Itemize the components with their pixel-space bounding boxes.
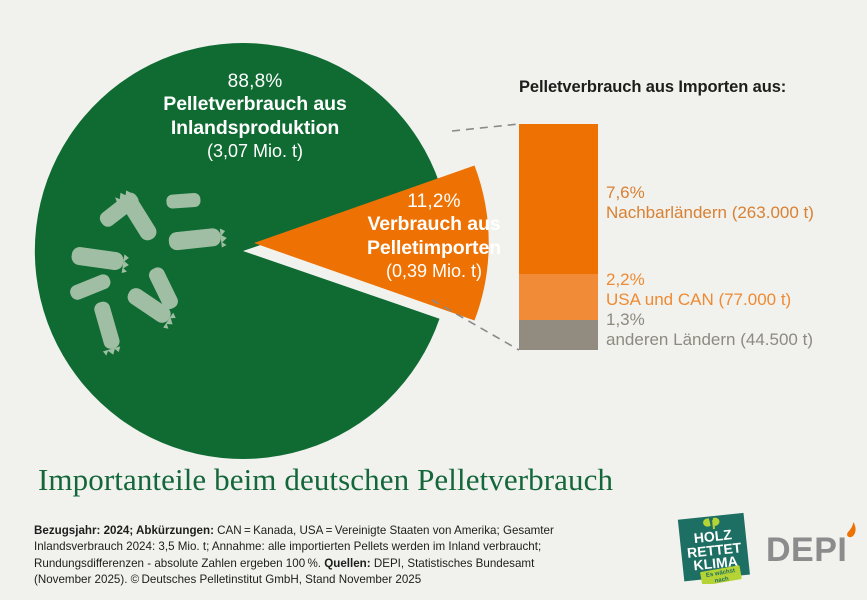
usa-can-label: USA und CAN (77.000 t) [606,290,791,310]
other-label: anderen Ländern (44.500 t) [606,330,813,350]
neighbour-percent: 7,6% [606,183,814,203]
bar-note-usa-can: 2,2% USA und CAN (77.000 t) [606,270,791,311]
neighbour-label: Nachbarländern (263.000 t) [606,203,814,223]
footnote: Bezugsjahr: 2024; Abkürzungen: CAN = Kan… [34,523,594,589]
holz-rettet-klima-logo: HOLZ RETTET KLIMA Es wächst nach [676,512,754,584]
bar-segment-neighbour [519,124,598,274]
depi-logo: DEPI [766,527,862,575]
chart-title: Importanteile beim deutschen Pelletverbr… [38,462,613,498]
depi-wordmark: DEPI [766,531,847,570]
bar-chart-heading: Pelletverbrauch aus Importen aus: [519,78,786,97]
footnote-bold-quellen: Quellen: [324,557,370,570]
bar-note-other: 1,3% anderen Ländern (44.500 t) [606,310,813,351]
other-percent: 1,3% [606,310,813,330]
connector-line-top [452,124,519,131]
holz-tagline2: nach [714,576,729,584]
bar-segment-other [519,320,598,350]
bar-segment-usa-can [519,274,598,320]
pie-chart [0,0,867,470]
infographic-root: 88,8% Pelletverbrauch aus Inlandsprodukt… [0,0,867,600]
stacked-bar-chart [519,124,598,350]
footnote-bold-bezugsjahr: Bezugsjahr: 2024; Abkürzungen: [34,524,214,537]
bar-note-neighbour: 7,6% Nachbarländern (263.000 t) [606,183,814,224]
flame-icon [842,521,860,543]
usa-can-percent: 2,2% [606,270,791,290]
